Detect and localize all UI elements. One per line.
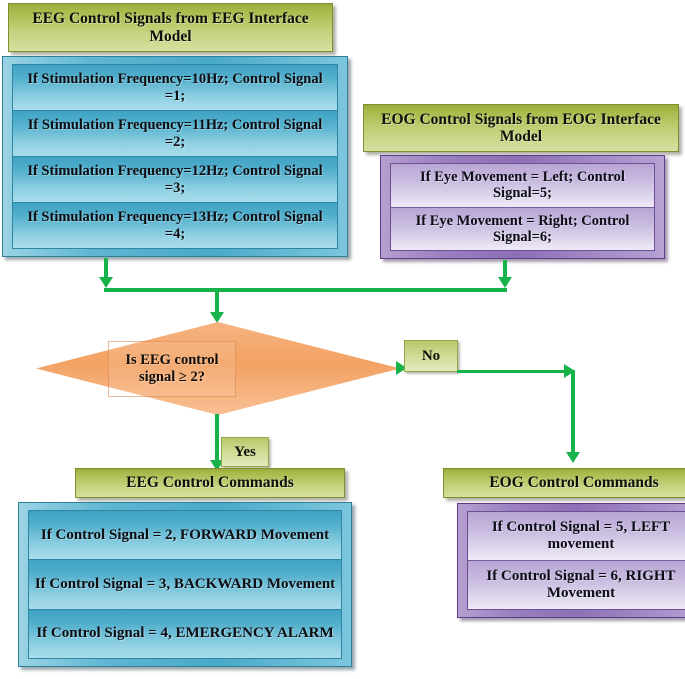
eeg-command-item: If Control Signal = 4, EMERGENCY ALARM	[29, 610, 341, 658]
eog-rule-item: If Eye Movement = Right; Control Signal=…	[391, 208, 654, 251]
eog-source-rules-inner: If Eye Movement = Left; Control Signal=5…	[390, 163, 655, 251]
eeg-commands-inner: If Control Signal = 2, FORWARD Movement …	[28, 510, 342, 659]
connector-no-vertical	[571, 370, 575, 456]
eeg-commands-box: If Control Signal = 2, FORWARD Movement …	[18, 502, 352, 667]
arrowhead-eog-to-merge-icon	[498, 277, 512, 288]
eeg-rule-item: If Stimulation Frequency=11Hz; Control S…	[13, 111, 337, 157]
eeg-rule-text: If Stimulation Frequency=10Hz; Control S…	[17, 71, 333, 103]
eog-source-header: EOG Control Signals from EOG Interface M…	[363, 104, 679, 152]
eeg-command-item: If Control Signal = 2, FORWARD Movement	[29, 511, 341, 560]
eog-commands-header-label: EOG Control Commands	[489, 474, 658, 491]
eog-rule-item: If Eye Movement = Left; Control Signal=5…	[391, 164, 654, 208]
eeg-commands-header: EEG Control Commands	[75, 468, 345, 498]
eeg-command-text: If Control Signal = 4, EMERGENCY ALARM	[36, 625, 333, 642]
eog-commands-box: If Control Signal = 5, LEFT movement If …	[457, 503, 685, 618]
yes-branch-tag: Yes	[221, 437, 269, 467]
eog-rule-text: If Eye Movement = Left; Control Signal=5…	[395, 169, 650, 201]
arrowhead-eeg-to-merge-icon	[99, 277, 113, 288]
eog-rule-text: If Eye Movement = Right; Control Signal=…	[395, 213, 650, 245]
eeg-source-rules-box: If Stimulation Frequency=10Hz; Control S…	[2, 56, 348, 257]
eog-command-item: If Control Signal = 5, LEFT movement	[468, 512, 685, 561]
eog-command-item: If Control Signal = 6, RIGHT Movement	[468, 561, 685, 609]
eeg-rule-text: If Stimulation Frequency=11Hz; Control S…	[17, 117, 333, 149]
eog-commands-inner: If Control Signal = 5, LEFT movement If …	[467, 511, 685, 610]
eeg-rule-text: If Stimulation Frequency=12Hz; Control S…	[17, 163, 333, 195]
no-branch-label: No	[422, 348, 440, 365]
eeg-source-rules-inner: If Stimulation Frequency=10Hz; Control S…	[12, 64, 338, 249]
connector-no-horizontal	[457, 370, 575, 373]
eeg-rule-item: If Stimulation Frequency=12Hz; Control S…	[13, 157, 337, 203]
arrowhead-no-to-eog-commands-icon	[566, 452, 580, 463]
eeg-rule-text: If Stimulation Frequency=13Hz; Control S…	[17, 209, 333, 241]
eog-command-text: If Control Signal = 5, LEFT movement	[472, 519, 685, 553]
eog-source-header-label: EOG Control Signals from EOG Interface M…	[368, 111, 674, 146]
eog-commands-header: EOG Control Commands	[443, 468, 685, 498]
eeg-command-text: If Control Signal = 3, BACKWARD Movement	[35, 576, 335, 593]
flowchart-canvas: EEG Control Signals from EEG Interface M…	[0, 0, 685, 679]
eeg-commands-header-label: EEG Control Commands	[126, 474, 294, 491]
yes-branch-label: Yes	[234, 444, 256, 461]
eeg-source-header: EEG Control Signals from EEG Interface M…	[8, 3, 333, 52]
decision-label: Is EEG control signal ≥ 2?	[108, 341, 236, 397]
eeg-source-header-label: EEG Control Signals from EEG Interface M…	[13, 10, 328, 45]
merge-bar	[104, 288, 507, 292]
eeg-rule-item: If Stimulation Frequency=10Hz; Control S…	[13, 65, 337, 111]
connector-yes-vertical	[215, 414, 219, 464]
decision-text: Is EEG control signal ≥ 2?	[109, 352, 235, 387]
eeg-command-item: If Control Signal = 3, BACKWARD Movement	[29, 560, 341, 609]
eog-source-rules-box: If Eye Movement = Left; Control Signal=5…	[380, 155, 665, 259]
eog-command-text: If Control Signal = 6, RIGHT Movement	[472, 568, 685, 602]
eeg-rule-item: If Stimulation Frequency=13Hz; Control S…	[13, 203, 337, 248]
eeg-command-text: If Control Signal = 2, FORWARD Movement	[41, 527, 329, 544]
no-branch-tag: No	[404, 340, 458, 372]
